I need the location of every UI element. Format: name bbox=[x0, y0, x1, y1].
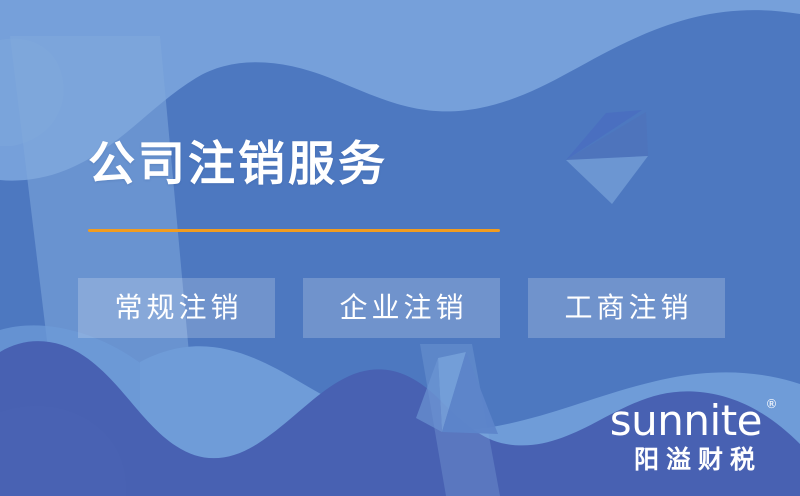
service-tag-commerce[interactable]: 工商注销 bbox=[528, 278, 725, 338]
service-tag-enterprise[interactable]: 企业注销 bbox=[303, 278, 500, 338]
service-tag-label: 常规注销 bbox=[110, 294, 242, 322]
page-title: 公司注销服务 bbox=[88, 140, 388, 187]
brand-logo: sunnite ® 阳溢财税 bbox=[610, 400, 762, 474]
banner-content: 公司注销服务 常规注销 企业注销 工商注销 sunnite ® 阳溢财税 bbox=[0, 0, 800, 496]
brand-subtitle: 阳溢财税 bbox=[610, 446, 762, 474]
registered-trademark-icon: ® bbox=[766, 398, 778, 410]
service-tag-label: 工商注销 bbox=[560, 294, 692, 322]
brand-wordmark: sunnite ® bbox=[610, 400, 762, 442]
brand-wordmark-text: sunnite bbox=[610, 396, 762, 445]
title-divider bbox=[88, 229, 500, 232]
service-tag-regular[interactable]: 常规注销 bbox=[78, 278, 275, 338]
promo-banner: 公司注销服务 常规注销 企业注销 工商注销 sunnite ® 阳溢财税 bbox=[0, 0, 800, 496]
service-tag-label: 企业注销 bbox=[335, 294, 467, 322]
service-tag-row: 常规注销 企业注销 工商注销 bbox=[78, 278, 725, 338]
